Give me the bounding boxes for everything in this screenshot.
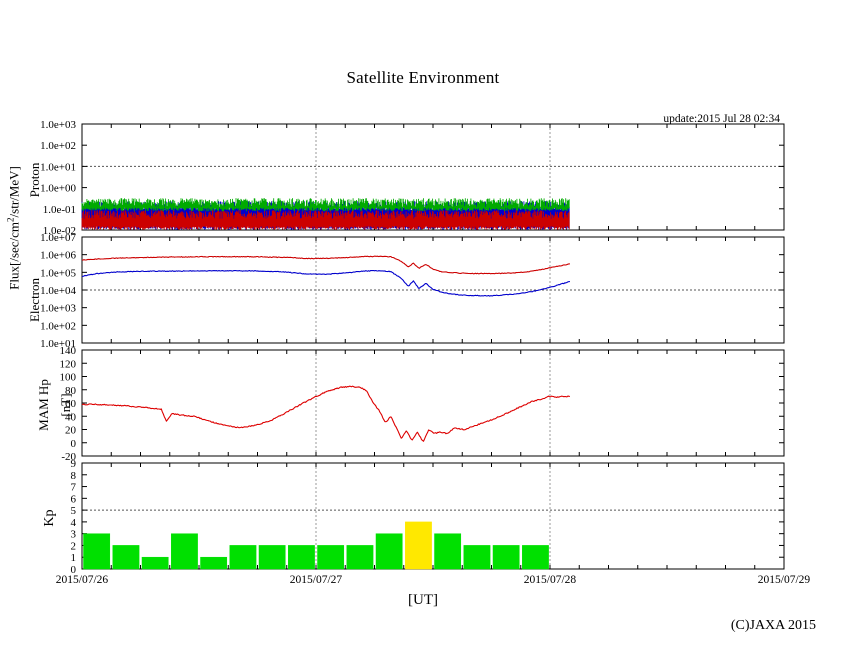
kp-bar[interactable] bbox=[347, 545, 373, 569]
x-axis-tick-label: 2015/07/27 bbox=[290, 574, 343, 586]
kp-panel-ytick-label: 2 bbox=[71, 540, 77, 552]
kp-bar[interactable] bbox=[142, 557, 168, 569]
mam-hp-panel-ytick-label: 80 bbox=[65, 385, 77, 397]
mam-hp-panel-mam-hp bbox=[82, 386, 570, 441]
kp-panel-ytick-label: 1 bbox=[71, 552, 77, 564]
kp-bar[interactable] bbox=[230, 545, 256, 569]
satellite-environment-plot: Satellite Environment update:2015 Jul 28… bbox=[0, 0, 846, 655]
mam-hp-panel-ytick-label: 0 bbox=[71, 438, 77, 450]
kp-bar[interactable] bbox=[522, 545, 548, 569]
proton-panel-ytick-label: 1.0e+02 bbox=[40, 140, 76, 152]
kp-panel-ytick-label: 6 bbox=[71, 493, 77, 505]
electron-panel-ytick-label: 1.0e+04 bbox=[40, 285, 76, 297]
x-axis-tick-label: 2015/07/28 bbox=[524, 574, 577, 586]
mam-hp-panel-ytick-label: 100 bbox=[60, 372, 77, 384]
proton-panel-ytick-label: 1.0e-01 bbox=[43, 204, 76, 216]
mam-hp-panel-ytick-label: 60 bbox=[65, 398, 77, 410]
proton-panel-ytick-label: 1.0e+01 bbox=[40, 161, 76, 173]
mam-hp-panel-ytick-label: 140 bbox=[60, 345, 77, 357]
kp-bar[interactable] bbox=[318, 545, 344, 569]
electron-panel-ytick-label: 1.0e+02 bbox=[40, 320, 76, 332]
kp-panel-ytick-label: 3 bbox=[71, 529, 77, 541]
x-axis-tick-label: 2015/07/29 bbox=[758, 574, 811, 586]
mam-hp-panel-ytick-label: 40 bbox=[65, 411, 77, 423]
x-axis-label: [UT] bbox=[0, 592, 846, 609]
electron-panel-ytick-label: 1.0e+03 bbox=[40, 303, 76, 315]
copyright-notice: (C)JAXA 2015 bbox=[731, 618, 816, 634]
kp-bar[interactable] bbox=[464, 545, 490, 569]
kp-panel-ytick-label: 5 bbox=[71, 505, 77, 517]
kp-bar[interactable] bbox=[201, 557, 227, 569]
electron-panel-ytick-label: 1.0e+05 bbox=[40, 267, 76, 279]
electron-panel-ytick-label: 1.0e+07 bbox=[40, 232, 76, 244]
kp-panel-ytick-label: 7 bbox=[71, 482, 77, 494]
kp-bar[interactable] bbox=[376, 534, 402, 569]
electron-panel-electron-low-energy bbox=[82, 271, 570, 297]
kp-panel-ytick-label: 8 bbox=[71, 470, 77, 482]
kp-bar[interactable] bbox=[405, 522, 431, 569]
mam-hp-panel-frame bbox=[82, 350, 784, 456]
proton-panel-ytick-label: 1.0e+03 bbox=[40, 119, 76, 131]
mam-hp-panel-ytick-label: 120 bbox=[60, 358, 77, 370]
kp-bar[interactable] bbox=[435, 534, 461, 569]
mam-hp-panel-ytick-label: 20 bbox=[65, 425, 77, 437]
kp-bar[interactable] bbox=[259, 545, 285, 569]
kp-bar[interactable] bbox=[113, 545, 139, 569]
proton-panel-ytick-label: 1.0e+00 bbox=[40, 183, 76, 195]
kp-panel-ytick-label: 4 bbox=[71, 517, 77, 529]
kp-bar[interactable] bbox=[493, 545, 519, 569]
plot-canvas: 1.0e+031.0e+021.0e+011.0e+001.0e-011.0e-… bbox=[0, 0, 846, 655]
electron-panel-ytick-label: 1.0e+06 bbox=[40, 250, 76, 262]
kp-bar[interactable] bbox=[84, 534, 110, 569]
kp-bar[interactable] bbox=[288, 545, 314, 569]
kp-bar[interactable] bbox=[171, 534, 197, 569]
kp-panel-ytick-label: 9 bbox=[71, 458, 77, 470]
x-axis-tick-label: 2015/07/26 bbox=[56, 574, 109, 586]
